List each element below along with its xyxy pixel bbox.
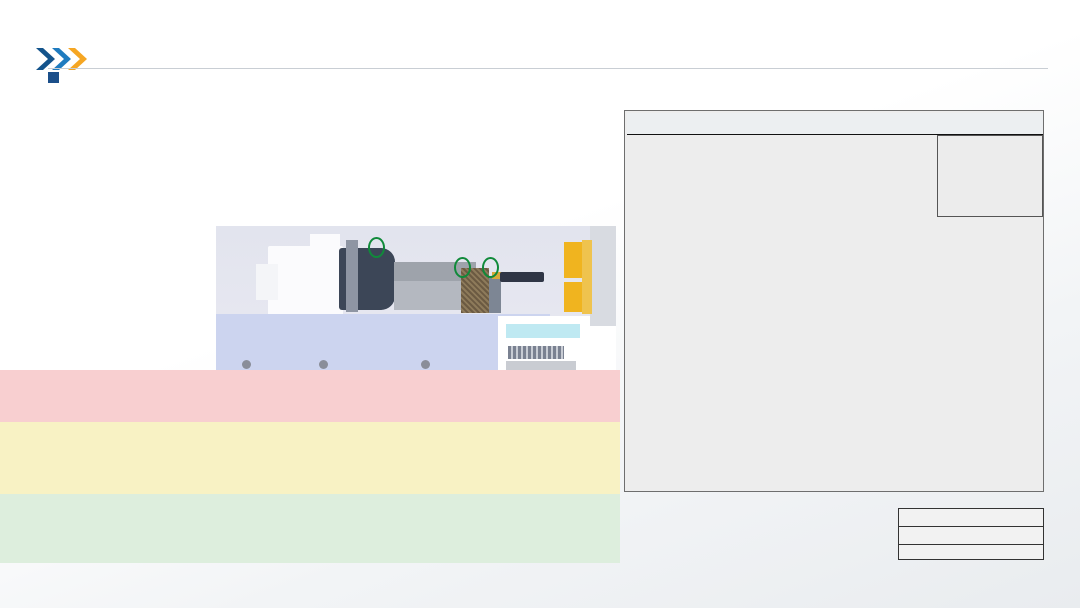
photo-motor-terminal-box bbox=[310, 234, 340, 254]
subtitle-bullet-icon bbox=[48, 72, 59, 83]
photo-motor-white bbox=[268, 246, 343, 316]
chart-white-card bbox=[10, 314, 460, 602]
iso-evaluation-table bbox=[624, 110, 1044, 492]
iso-table-title bbox=[627, 113, 1043, 135]
iso-rms-header bbox=[937, 135, 1043, 217]
photo-bearing-block bbox=[489, 276, 501, 313]
measurement-marker-2 bbox=[454, 257, 471, 278]
photo-fixture-yellow-post bbox=[582, 240, 592, 314]
slide-header bbox=[0, 18, 1080, 70]
photo-cabinet-stripe bbox=[508, 346, 564, 359]
vibration-range-box bbox=[898, 508, 1044, 560]
range-row-1 bbox=[899, 527, 1043, 544]
subtitle-row bbox=[48, 72, 63, 83]
photo-right-frame bbox=[590, 226, 616, 326]
slide-canvas bbox=[0, 0, 1080, 608]
photo-drive-shaft bbox=[500, 272, 544, 282]
range-row-2 bbox=[899, 544, 1043, 561]
photo-motor-bracket bbox=[346, 240, 358, 312]
photo-fixture-yellow-upper bbox=[564, 242, 582, 278]
iso-color-grid bbox=[627, 135, 937, 381]
photo-fixture-yellow-lower bbox=[564, 282, 582, 312]
measurement-marker-1 bbox=[368, 237, 385, 258]
photo-cabinet-panel bbox=[506, 324, 580, 338]
photo-motor-endcap bbox=[256, 264, 278, 300]
iso-zone-legend bbox=[628, 504, 866, 566]
measurement-marker-3 bbox=[482, 257, 499, 278]
range-box-title bbox=[899, 509, 1043, 527]
title-divider bbox=[48, 68, 1048, 69]
